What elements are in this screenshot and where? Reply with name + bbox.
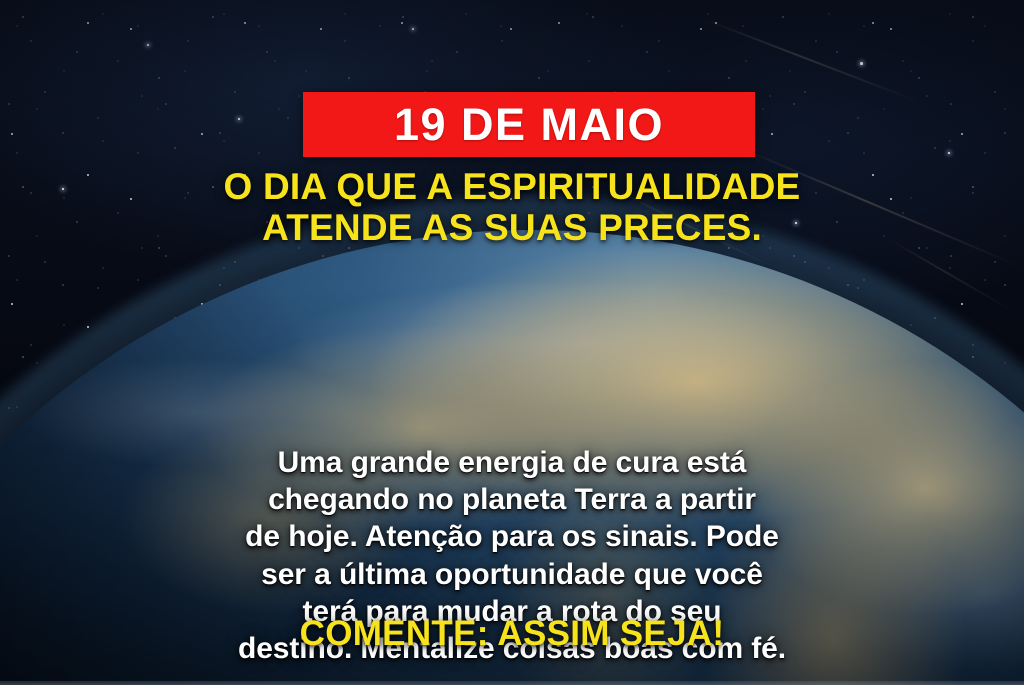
- headline-line-1: O DIA QUE A ESPIRITUALIDADE: [0, 166, 1024, 207]
- body-line-2: chegando no planeta Terra a partir: [0, 481, 1024, 518]
- headline: O DIA QUE A ESPIRITUALIDADE ATENDE AS SU…: [0, 166, 1024, 249]
- poster-content: 19 DE MAIO O DIA QUE A ESPIRITUALIDADE A…: [0, 0, 1024, 685]
- body-line-1: Uma grande energia de cura está: [0, 444, 1024, 481]
- body-line-3: de hoje. Atenção para os sinais. Pode: [0, 518, 1024, 555]
- body-line-4: ser a última oportunidade que você: [0, 556, 1024, 593]
- date-banner-text: 19 DE MAIO: [394, 102, 664, 147]
- poster-canvas: 19 DE MAIO O DIA QUE A ESPIRITUALIDADE A…: [0, 0, 1024, 685]
- date-banner: 19 DE MAIO: [303, 92, 755, 157]
- headline-line-2: ATENDE AS SUAS PRECES.: [0, 207, 1024, 248]
- call-to-action-text: COMENTE: ASSIM SEJA!: [0, 614, 1024, 654]
- bottom-edge-strip: [0, 681, 1024, 685]
